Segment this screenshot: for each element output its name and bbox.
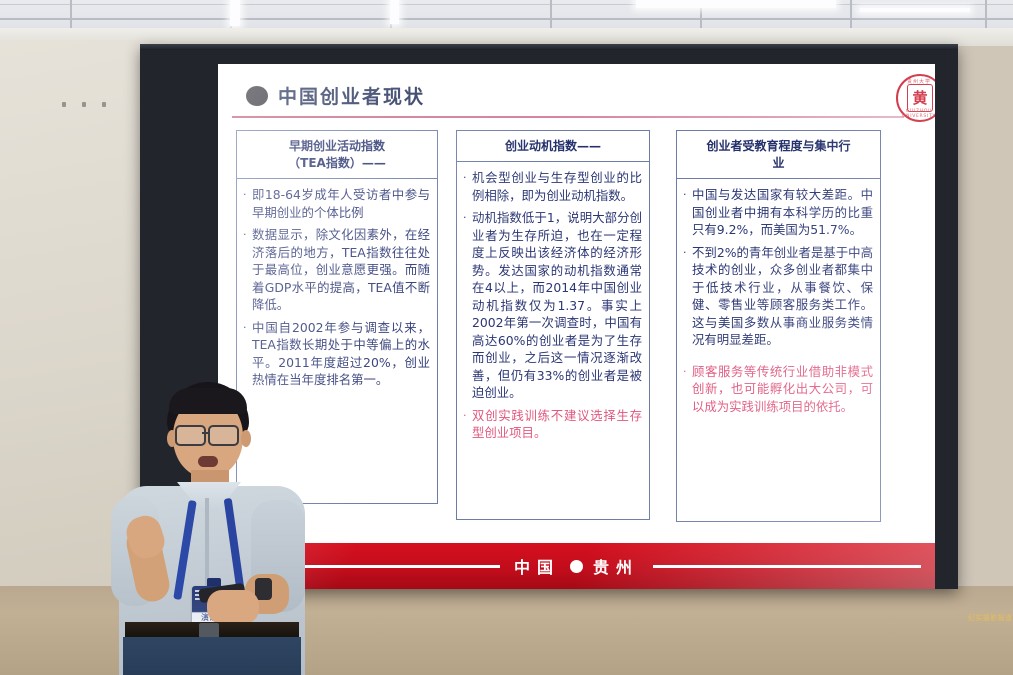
column-header-line1: 早期创业活动指数 xyxy=(289,139,385,153)
bullet-text: 不到2%的青年创业者是基于中高技术的创业，众多创业者都集中于低技术行业，从事餐饮… xyxy=(692,244,873,349)
university-seal-icon: 贵州大学 黄 GUIZHOU UNIVERSITY xyxy=(896,74,935,122)
bullet-item-highlight: · 双创实践训练不建议选择生存型创业项目。 xyxy=(463,407,642,442)
bullet-text: 顾客服务等传统行业借助非模式创新，也可能孵化出大公司，可以成为实践训练项目的依托… xyxy=(692,363,873,416)
bullet-dot-icon: · xyxy=(463,169,472,204)
ceiling-light xyxy=(390,0,399,24)
mouth xyxy=(198,456,218,467)
hair-fringe xyxy=(169,388,247,414)
photo-watermark: 纪实摄影报道：贵州招商引资报道 xyxy=(968,613,1013,623)
bullet-item: · 不到2%的青年创业者是基于中高技术的创业，众多创业者都集中于低技术行业，从事… xyxy=(683,244,873,349)
bullet-item: · 中国与发达国家有较大差距。中国创业者中拥有本科学历的比重只有9.2%，而美国… xyxy=(683,186,873,239)
slide-columns: 早期创业活动指数 （TEA指数）—— · 即18-64岁成年人受访者中参与早期创… xyxy=(218,130,935,520)
ceiling-light xyxy=(230,0,240,26)
bullet-dot-icon: · xyxy=(683,363,692,416)
column-body: · 机会型创业与生存型创业的比例相除，即为创业动机指数。 · 动机指数低于1，说… xyxy=(457,162,649,453)
bullet-item: · 数据显示，除文化因素外，在经济落后的地方，TEA指数往往处于最高位，创业意愿… xyxy=(243,226,430,314)
ceiling-light xyxy=(636,0,836,8)
bullet-text: 数据显示，除文化因素外，在经济落后的地方，TEA指数往往处于最高位，创业意愿更强… xyxy=(252,226,430,314)
seal-arc-bottom: GUIZHOU UNIVERSITY xyxy=(902,109,935,118)
wall-marks xyxy=(62,102,122,108)
ear-right xyxy=(241,430,251,447)
filled-circle-icon xyxy=(246,86,268,106)
column-body: · 即18-64岁成年人受访者中参与早期创业的个体比例 · 数据显示，除文化因素… xyxy=(237,179,437,400)
bullet-item: · 动机指数低于1，说明大部分创业者为生存所迫，也在一定程度上反映出该经济体的经… xyxy=(463,209,642,402)
column-header-line1: 创业动机指数—— xyxy=(505,139,601,153)
white-dot-icon xyxy=(570,560,583,573)
footer-text: 中国 贵州 xyxy=(514,554,639,578)
seal-center-char: 黄 xyxy=(907,84,933,112)
bullet-text: 中国与发达国家有较大差距。中国创业者中拥有本科学历的比重只有9.2%，而美国为5… xyxy=(692,186,873,239)
header-divider xyxy=(232,116,904,118)
presentation-slide: 中国创业者现状 贵州大学 黄 GUIZHOU UNIVERSITY 传学溢珍 明… xyxy=(218,64,935,589)
column-header: 早期创业活动指数 （TEA指数）—— xyxy=(237,131,437,179)
column-header: 创业者受教育程度与集中行 业 xyxy=(677,131,880,179)
bullet-dot-icon: · xyxy=(683,186,692,239)
bullet-dot-icon: · xyxy=(463,407,472,442)
wristwatch xyxy=(255,578,272,600)
bullet-text: 机会型创业与生存型创业的比例相除，即为创业动机指数。 xyxy=(472,169,642,204)
bullet-item-highlight: · 顾客服务等传统行业借助非模式创新，也可能孵化出大公司，可以成为实践训练项目的… xyxy=(683,363,873,416)
eyeglasses-bridge xyxy=(202,432,208,434)
bullet-text: 动机指数低于1，说明大部分创业者为生存所迫，也在一定程度上反映出该经济体的经济形… xyxy=(472,209,642,402)
footer-label-right: 贵州 xyxy=(593,554,639,578)
bullet-dot-icon: · xyxy=(243,226,252,314)
column-motivation-index: 创业动机指数—— · 机会型创业与生存型创业的比例相除，即为创业动机指数。 · … xyxy=(456,130,650,520)
slide-footer-banner: 中国 贵州 xyxy=(218,543,935,589)
presenter: 演讲者 xyxy=(95,378,310,675)
column-education-industry: 创业者受教育程度与集中行 业 · 中国与发达国家有较大差距。中国创业者中拥有本科… xyxy=(676,130,881,522)
column-body: · 中国与发达国家有较大差距。中国创业者中拥有本科学历的比重只有9.2%，而美国… xyxy=(677,179,880,426)
ceiling-light xyxy=(860,8,970,12)
column-header: 创业动机指数—— xyxy=(457,131,649,162)
footer-rule-right xyxy=(653,565,921,568)
column-header-line2: （TEA指数）—— xyxy=(243,155,431,172)
hand-right xyxy=(207,590,259,624)
bullet-dot-icon: · xyxy=(243,186,252,221)
column-header-line2: 业 xyxy=(683,155,874,172)
eyeglasses-right-lens xyxy=(208,425,239,446)
bullet-text: 双创实践训练不建议选择生存型创业项目。 xyxy=(472,407,642,442)
eyeglasses-left-lens xyxy=(175,425,206,446)
belt-buckle xyxy=(199,623,219,638)
bullet-item: · 即18-64岁成年人受访者中参与早期创业的个体比例 xyxy=(243,186,430,221)
bullet-dot-icon: · xyxy=(463,209,472,402)
ceiling xyxy=(0,0,1013,42)
column-header-line1: 创业者受教育程度与集中行 xyxy=(706,139,850,153)
bullet-dot-icon: · xyxy=(683,244,692,349)
bullet-text: 即18-64岁成年人受访者中参与早期创业的个体比例 xyxy=(252,186,430,221)
slide-title: 中国创业者现状 xyxy=(278,82,425,109)
presentation-scene: 中国创业者现状 贵州大学 黄 GUIZHOU UNIVERSITY 传学溢珍 明… xyxy=(0,0,1013,675)
bullet-item: · 机会型创业与生存型创业的比例相除，即为创业动机指数。 xyxy=(463,169,642,204)
footer-label-left: 中国 xyxy=(514,554,560,578)
jeans xyxy=(123,637,301,675)
slide-header: 中国创业者现状 贵州大学 黄 GUIZHOU UNIVERSITY 传学溢珍 明… xyxy=(218,64,935,126)
